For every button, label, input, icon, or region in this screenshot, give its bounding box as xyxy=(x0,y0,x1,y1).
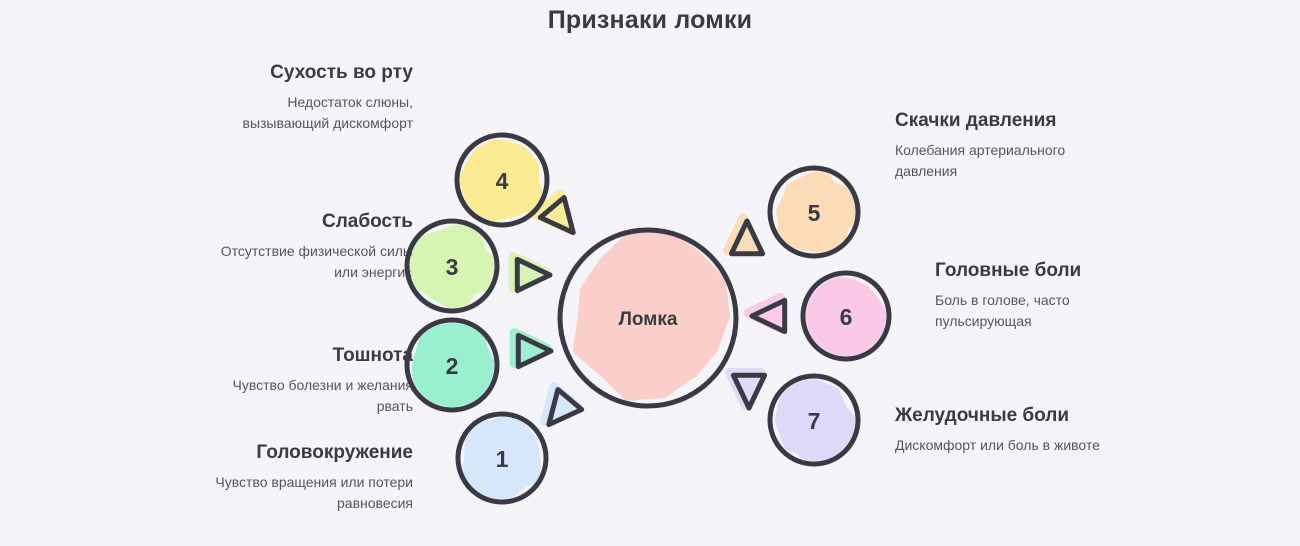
arrow-from-6-icon xyxy=(748,297,785,331)
bubble-number-4: 4 xyxy=(496,168,509,194)
bubble-3[interactable]: 3 xyxy=(407,221,498,311)
bubble-diagram: 1234567 Ломка xyxy=(0,0,1300,546)
bubble-7[interactable]: 7 xyxy=(770,376,858,464)
arrow-from-2-icon xyxy=(514,332,551,366)
bubble-number-6: 6 xyxy=(840,304,853,330)
bubble-6[interactable]: 6 xyxy=(803,273,889,359)
arrow-from-1-icon xyxy=(545,387,582,425)
arrow-from-7-icon xyxy=(729,372,764,408)
center-node[interactable]: Ломка xyxy=(560,230,736,406)
bubble-number-1: 1 xyxy=(496,446,509,472)
bubble-number-5: 5 xyxy=(808,200,821,226)
bubble-number-2: 2 xyxy=(446,353,459,379)
bubble-4[interactable]: 4 xyxy=(457,135,547,225)
bubble-5[interactable]: 5 xyxy=(770,168,859,256)
arrow-from-3-icon xyxy=(513,256,550,290)
bubble-1[interactable]: 1 xyxy=(458,414,546,502)
infographic-canvas: Признаки ломки Сухость во рту Недостаток… xyxy=(0,0,1300,546)
bubble-number-7: 7 xyxy=(808,408,821,434)
arrow-from-5-icon xyxy=(727,218,762,254)
center-label: Ломка xyxy=(619,309,678,330)
bubble-number-3: 3 xyxy=(446,254,459,280)
bubble-2[interactable]: 2 xyxy=(407,320,497,410)
